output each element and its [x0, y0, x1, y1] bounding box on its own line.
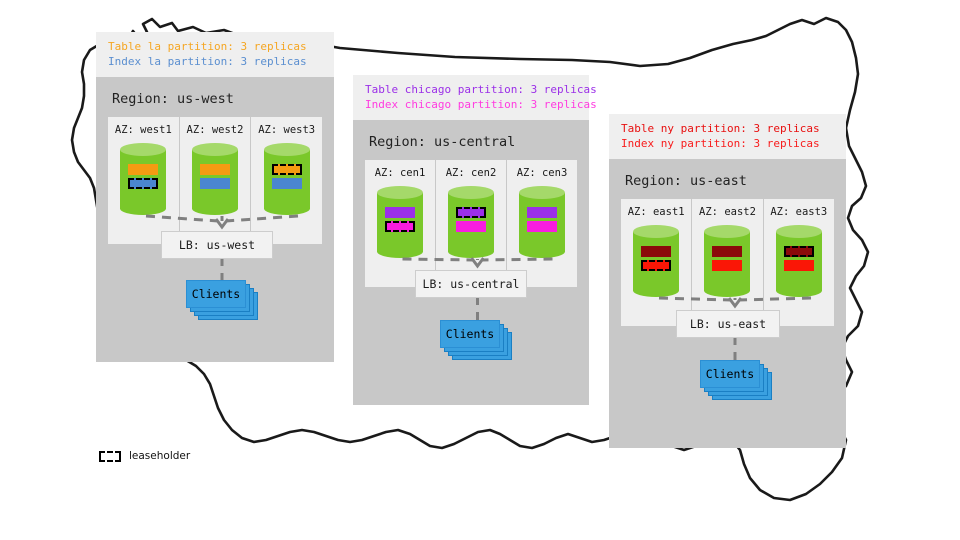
az-label: AZ: west2 [187, 124, 244, 136]
legend: leaseholder [99, 450, 190, 462]
database-cylinder[interactable] [192, 143, 238, 215]
az-cell-cen3[interactable]: AZ: cen3 [507, 160, 577, 287]
az-label: AZ: cen1 [375, 167, 426, 179]
region-body-us-east: Region: us-eastAZ: east1AZ: east2AZ: eas… [609, 159, 846, 448]
az-cell-east3[interactable]: AZ: east3 [764, 199, 834, 326]
database-cylinder[interactable] [120, 143, 166, 215]
partition-header-us-west: Table la partition: 3 replicasIndex la p… [96, 32, 334, 77]
cylinder-top-icon [519, 186, 565, 199]
az-label: AZ: cen2 [446, 167, 497, 179]
az-row: AZ: west1AZ: west2AZ: west3 [108, 117, 322, 244]
load-balancer-us-west[interactable]: LB: us-west [161, 231, 273, 259]
region-title: Region: us-east [621, 169, 834, 199]
replica-bar-index-leaseholder[interactable] [641, 260, 671, 271]
az-cell-east2[interactable]: AZ: east2 [692, 199, 763, 326]
database-cylinder[interactable] [633, 225, 679, 297]
database-cylinder[interactable] [776, 225, 822, 297]
cylinder-top-icon [448, 186, 494, 199]
load-balancer-us-east[interactable]: LB: us-east [676, 310, 780, 338]
az-cell-cen2[interactable]: AZ: cen2 [436, 160, 507, 287]
leaseholder-swatch-icon [99, 451, 121, 462]
replica-bar-index[interactable] [200, 178, 230, 189]
database-cylinder[interactable] [264, 143, 310, 215]
clients-stack-us-central[interactable]: Clients [440, 320, 510, 358]
cylinder-top-icon [776, 225, 822, 238]
replica-bar-table-leaseholder[interactable] [784, 246, 814, 257]
replica-bar-table-leaseholder[interactable] [272, 164, 302, 175]
az-cell-west1[interactable]: AZ: west1 [108, 117, 180, 244]
clients-label[interactable]: Clients [186, 280, 246, 308]
replica-bar-table[interactable] [385, 207, 415, 218]
table-partition-label: Table ny partition: 3 replicas [621, 121, 834, 136]
database-cylinder[interactable] [519, 186, 565, 258]
table-partition-label: Table la partition: 3 replicas [108, 39, 322, 54]
region-title: Region: us-west [108, 87, 322, 117]
database-cylinder[interactable] [448, 186, 494, 258]
clients-stack-us-west[interactable]: Clients [186, 280, 256, 318]
cylinder-top-icon [120, 143, 166, 156]
clients-label[interactable]: Clients [440, 320, 500, 348]
legend-label: leaseholder [129, 450, 190, 462]
az-cell-east1[interactable]: AZ: east1 [621, 199, 692, 326]
cylinder-top-icon [264, 143, 310, 156]
load-balancer-us-central[interactable]: LB: us-central [415, 270, 527, 298]
cylinder-top-icon [377, 186, 423, 199]
az-cell-west2[interactable]: AZ: west2 [180, 117, 252, 244]
index-partition-label: Index la partition: 3 replicas [108, 54, 322, 69]
partition-header-us-east: Table ny partition: 3 replicasIndex ny p… [609, 114, 846, 159]
replica-bar-index[interactable] [784, 260, 814, 271]
az-label: AZ: east1 [628, 206, 685, 218]
clients-label[interactable]: Clients [700, 360, 760, 388]
az-label: AZ: east3 [770, 206, 827, 218]
replica-bar-table[interactable] [712, 246, 742, 257]
az-label: AZ: west1 [115, 124, 172, 136]
clients-stack-us-east[interactable]: Clients [700, 360, 770, 398]
az-row: AZ: east1AZ: east2AZ: east3 [621, 199, 834, 326]
replica-bar-table[interactable] [527, 207, 557, 218]
replica-bar-table-leaseholder[interactable] [456, 207, 486, 218]
region-body-us-central: Region: us-centralAZ: cen1AZ: cen2AZ: ce… [353, 120, 589, 405]
replica-bar-table[interactable] [641, 246, 671, 257]
region-title: Region: us-central [365, 130, 577, 160]
az-label: AZ: west3 [258, 124, 315, 136]
cylinder-top-icon [192, 143, 238, 156]
replica-bar-index[interactable] [272, 178, 302, 189]
partition-header-us-central: Table chicago partition: 3 replicasIndex… [353, 75, 589, 120]
database-cylinder[interactable] [704, 225, 750, 297]
az-cell-cen1[interactable]: AZ: cen1 [365, 160, 436, 287]
replica-bar-index[interactable] [712, 260, 742, 271]
replica-bar-table[interactable] [128, 164, 158, 175]
az-row: AZ: cen1AZ: cen2AZ: cen3 [365, 160, 577, 287]
index-partition-label: Index ny partition: 3 replicas [621, 136, 834, 151]
az-cell-west3[interactable]: AZ: west3 [251, 117, 322, 244]
replica-bar-index[interactable] [527, 221, 557, 232]
replica-bar-table[interactable] [200, 164, 230, 175]
replica-bar-index-leaseholder[interactable] [385, 221, 415, 232]
replica-bar-index[interactable] [456, 221, 486, 232]
az-label: AZ: cen3 [517, 167, 568, 179]
table-partition-label: Table chicago partition: 3 replicas [365, 82, 577, 97]
az-label: AZ: east2 [699, 206, 756, 218]
index-partition-label: Index chicago partition: 3 replicas [365, 97, 577, 112]
database-cylinder[interactable] [377, 186, 423, 258]
cylinder-top-icon [633, 225, 679, 238]
replica-bar-index-leaseholder[interactable] [128, 178, 158, 189]
